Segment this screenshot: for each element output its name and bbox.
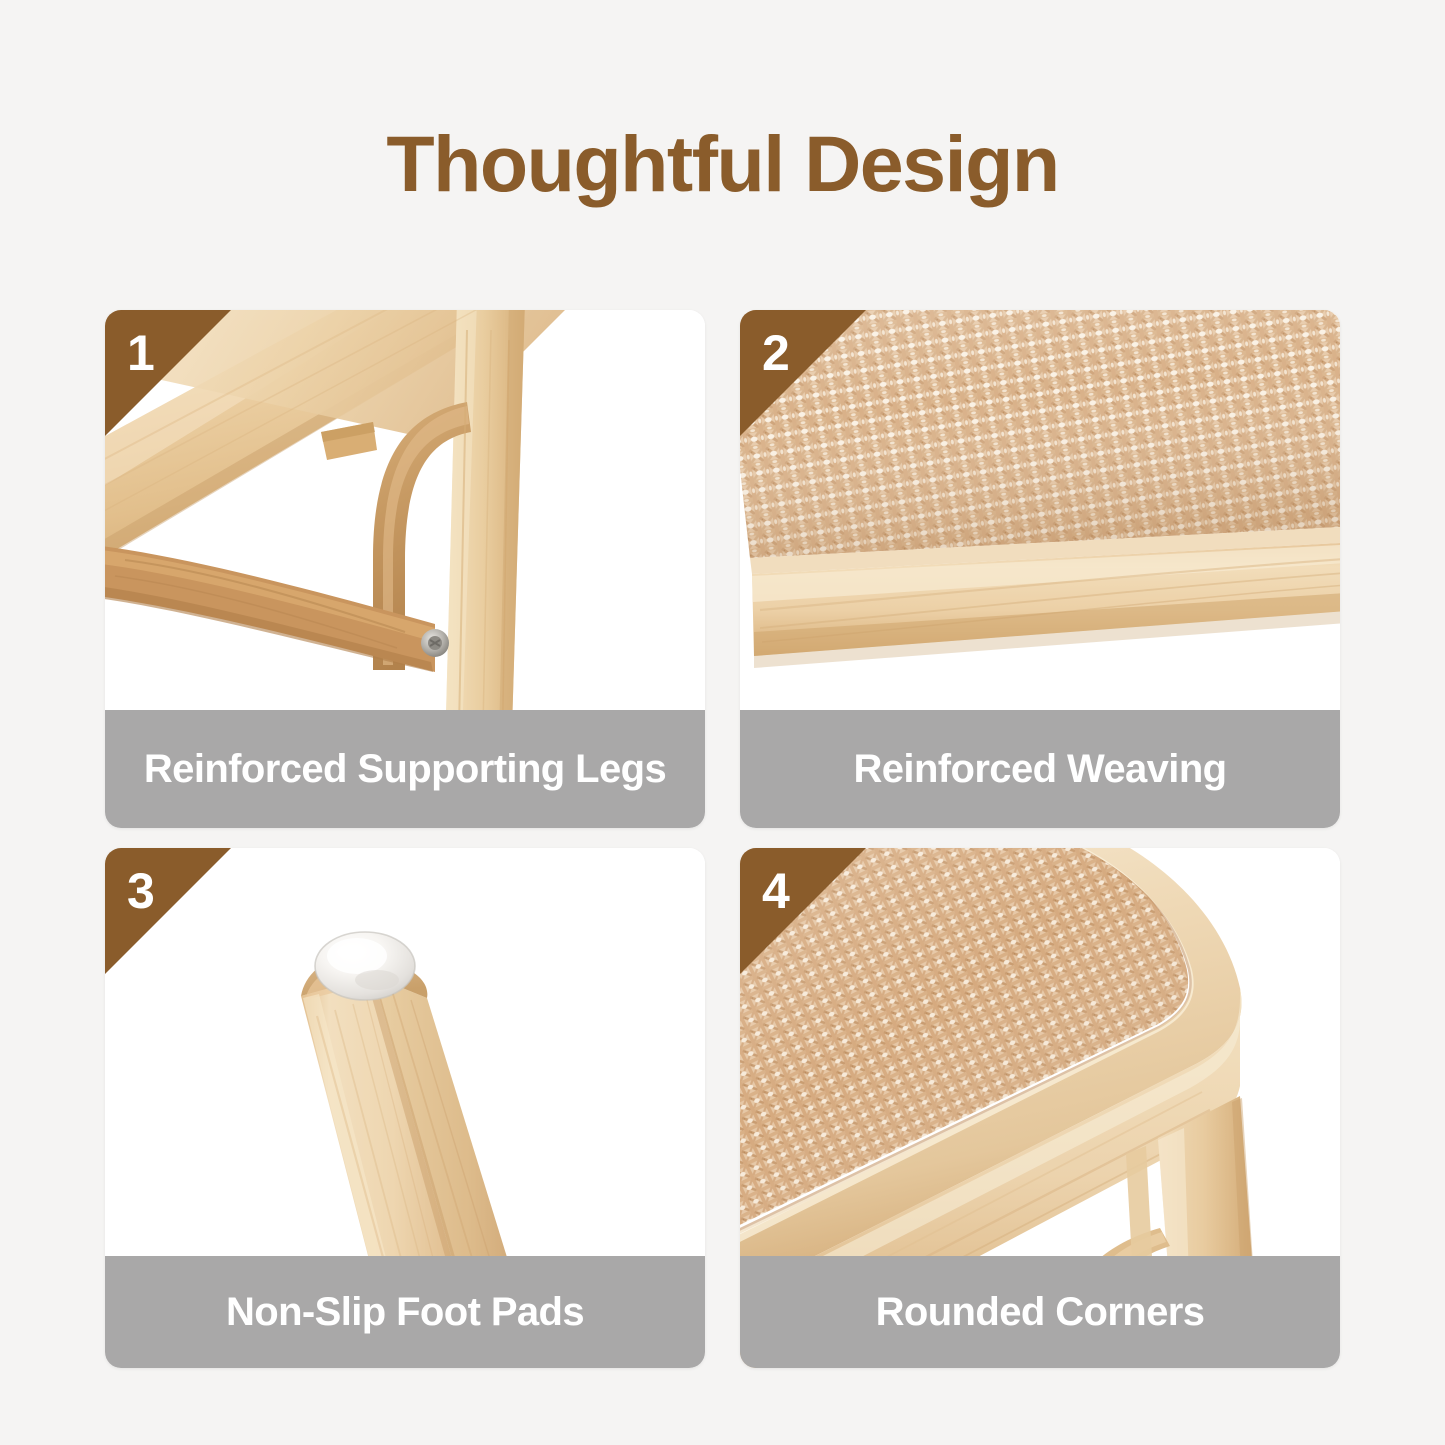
feature-card-3[interactable]: 3 Non-Slip Foot Pads: [105, 848, 705, 1368]
feature-card-1[interactable]: 1 Reinforced Supporting Legs: [105, 310, 705, 828]
card-caption-bar: Reinforced Weaving: [740, 710, 1340, 828]
card-caption-bar: Reinforced Supporting Legs: [105, 710, 705, 828]
feature-card-4[interactable]: 4 Rounded Corners: [740, 848, 1340, 1368]
card-caption-text: Reinforced Supporting Legs: [144, 747, 666, 792]
feature-card-2[interactable]: 2 Reinforced Weaving: [740, 310, 1340, 828]
page-title: Thoughtful Design: [0, 123, 1445, 206]
card-caption-text: Rounded Corners: [876, 1290, 1205, 1335]
card-caption-bar: Non-Slip Foot Pads: [105, 1256, 705, 1368]
card-caption-text: Non-Slip Foot Pads: [226, 1290, 584, 1335]
card-caption-text: Reinforced Weaving: [854, 747, 1227, 792]
infographic-page: Thoughtful Design: [0, 0, 1445, 1445]
card-caption-bar: Rounded Corners: [740, 1256, 1340, 1368]
feature-card-grid: 1 Reinforced Supporting Legs: [105, 310, 1340, 1368]
